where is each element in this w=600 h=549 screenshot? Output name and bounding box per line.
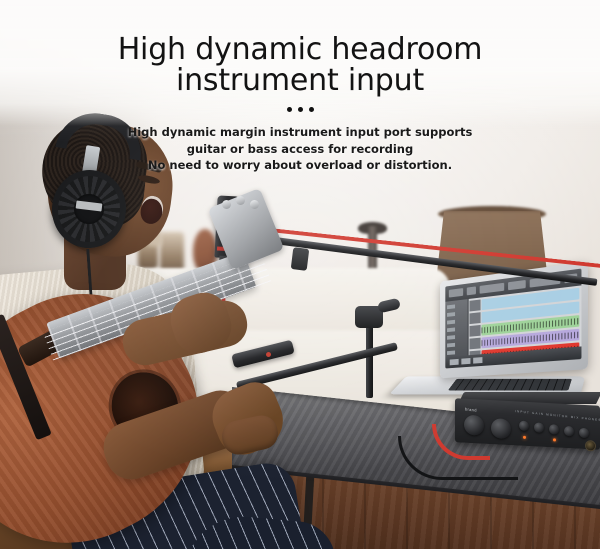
divider-dot-icon xyxy=(309,107,314,112)
control-knob-2[interactable] xyxy=(534,422,544,433)
laptop-computer[interactable] xyxy=(398,272,598,402)
control-knob-4[interactable] xyxy=(564,426,574,437)
subtitle-line-2: guitar or bass access for recording xyxy=(0,141,600,157)
page-title: High dynamic headroom instrument input xyxy=(0,34,600,96)
headline-line-2: instrument input xyxy=(0,65,600,96)
daw-application[interactable] xyxy=(445,269,581,369)
divider-dots xyxy=(0,107,600,112)
subtitle-block: High dynamic margin instrument input por… xyxy=(0,124,600,173)
interface-panel-label: INPUT GAIN MONITOR MIX PHONES xyxy=(515,409,600,422)
marketing-copy: High dynamic headroom instrument input H… xyxy=(0,0,600,173)
laptop-keyboard[interactable] xyxy=(448,379,572,391)
daw-track-area[interactable] xyxy=(470,285,582,355)
guitar-tuning-peg xyxy=(250,200,259,209)
control-knob-1[interactable] xyxy=(519,421,529,432)
headline-line-1: High dynamic headroom xyxy=(118,32,483,67)
guitar-tuning-peg xyxy=(236,196,245,205)
headphone-jack[interactable] xyxy=(585,440,596,452)
laptop-screen xyxy=(445,269,581,369)
divider-dot-icon xyxy=(298,107,303,112)
promo-banner: brand INPUT GAIN MONITOR MIX PHONES xyxy=(0,0,600,549)
mic-stand-pole xyxy=(366,318,373,398)
control-knob-3[interactable] xyxy=(549,424,559,435)
subtitle-line-3: No need to worry about overload or disto… xyxy=(0,157,600,173)
daw-mixer-strip[interactable] xyxy=(445,299,468,357)
guitar-tuning-peg xyxy=(222,200,231,209)
divider-dot-icon xyxy=(287,107,292,112)
control-knob-5[interactable] xyxy=(579,428,589,439)
subtitle-line-1: High dynamic margin instrument input por… xyxy=(0,124,600,140)
interface-brand-mark: brand xyxy=(465,406,477,412)
